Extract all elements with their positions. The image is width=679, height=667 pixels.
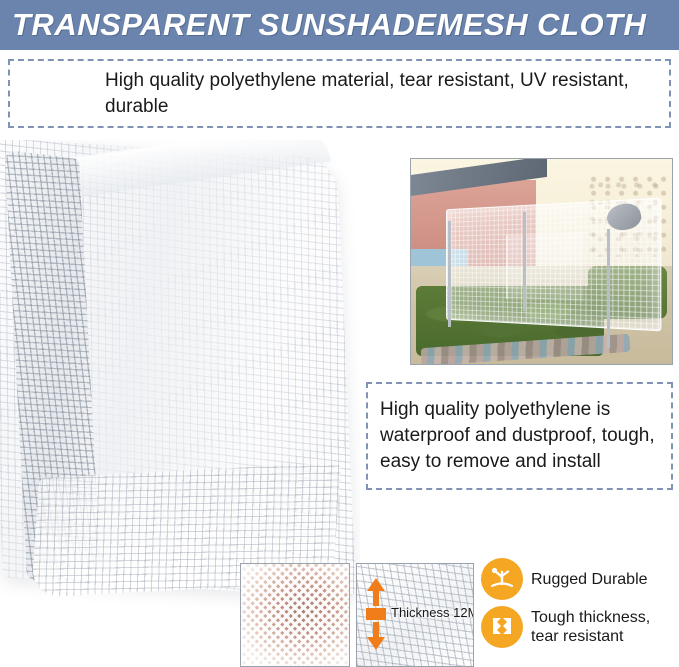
photo-support-post-left xyxy=(448,221,451,328)
feature-item-tear-resistant: Tough thickness, tear resistant xyxy=(481,606,679,648)
feature-label-rugged: Rugged Durable xyxy=(523,570,648,589)
photo-mesh-panel-seam xyxy=(507,233,584,302)
page-title: TRANSPARENT SUNSHADEMESH CLOTH xyxy=(12,7,646,43)
hand-behind-mesh-image xyxy=(241,564,349,666)
rugged-plant-icon xyxy=(481,558,523,600)
detail-panel-thickness: Thickness 12Mil xyxy=(356,563,474,667)
detail-panel-transparency xyxy=(240,563,350,667)
photo-support-post-mid xyxy=(523,212,526,310)
photo-support-post-right xyxy=(607,229,610,348)
callout-top-text: High quality polyethylene material, tear… xyxy=(10,68,669,120)
tear-resistant-icon xyxy=(481,606,523,648)
thickness-label: Thickness 12Mil xyxy=(391,605,474,620)
header-banner: TRANSPARENT SUNSHADEMESH CLOTH xyxy=(0,0,679,50)
feature-label-tear-resistant: Tough thickness, tear resistant xyxy=(523,608,679,646)
thickness-double-arrow-icon xyxy=(365,578,387,650)
callout-top: High quality polyethylene material, tear… xyxy=(8,59,671,128)
callout-right-text: High quality polyethylene is waterproof … xyxy=(368,397,671,475)
feature-item-rugged: Rugged Durable xyxy=(481,558,679,600)
feature-list: Rugged Durable Tough thickness, tear res… xyxy=(481,558,679,654)
outdoor-application-photo xyxy=(410,158,673,365)
product-image-folded-tarp xyxy=(0,140,360,610)
callout-right: High quality polyethylene is waterproof … xyxy=(366,382,673,490)
